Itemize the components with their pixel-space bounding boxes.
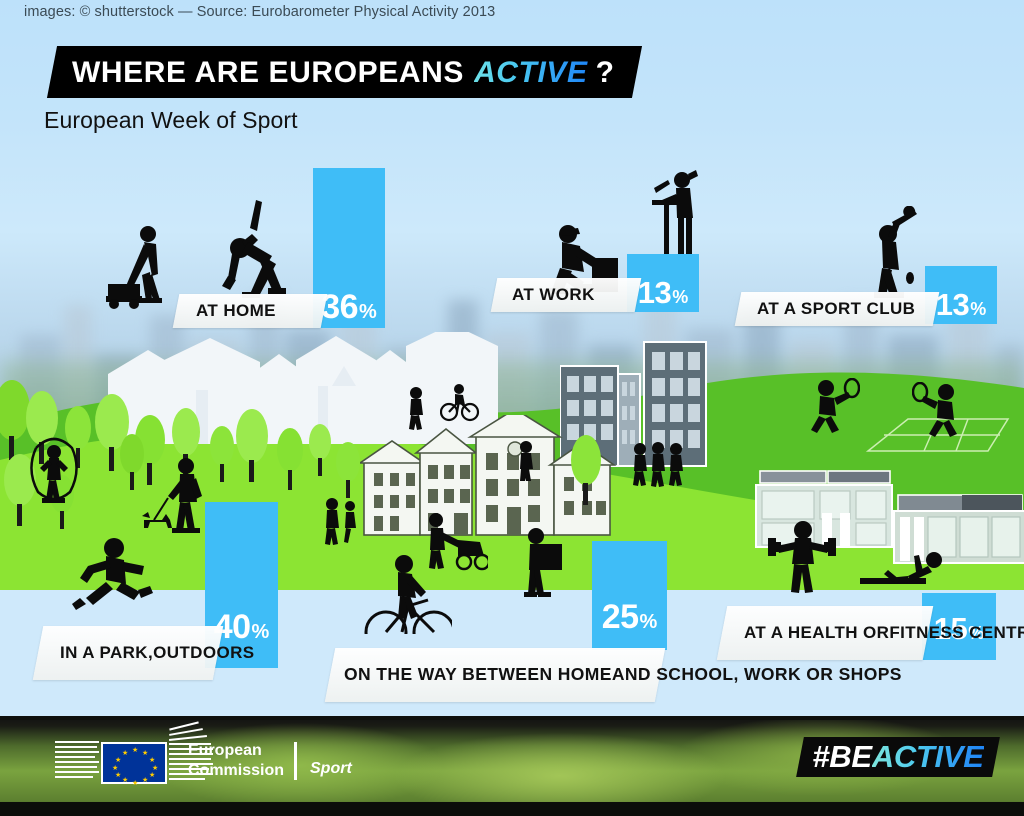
person-walking-hill-icon bbox=[404, 386, 430, 430]
label-at-work: AT WORK bbox=[512, 278, 638, 312]
logo-flourish-left bbox=[55, 739, 99, 783]
page-title: WHERE ARE EUROPEANS ACTIVE ? bbox=[72, 51, 615, 95]
joggers-group-icon bbox=[632, 442, 686, 492]
golfer-icon bbox=[858, 206, 924, 306]
footer-bottom-edge bbox=[0, 802, 1024, 816]
small-cyclist-icon bbox=[440, 384, 480, 422]
tree-single-center bbox=[560, 430, 640, 510]
child-walking-icon bbox=[318, 496, 362, 552]
floor-exercise-person-icon bbox=[856, 546, 952, 588]
hashtag-be-text: #BE bbox=[812, 739, 871, 775]
european-union-flag: ★ ★ ★ ★ ★ ★ ★ ★ ★ ★ ★ ★ bbox=[101, 742, 167, 784]
title-accent-text: ACTIVE bbox=[474, 56, 588, 90]
label-line-2: FITNESS CENTRE bbox=[889, 622, 1024, 643]
label-line-1: IN A PARK, bbox=[60, 642, 153, 663]
logo-divider bbox=[294, 742, 297, 780]
student-with-backpack-icon bbox=[518, 526, 566, 602]
tennis-player-right-icon bbox=[912, 382, 972, 438]
eu-line-1: European bbox=[188, 741, 284, 761]
bar-on-the-way: 25% bbox=[592, 541, 667, 650]
bar-value-on-the-way: 25% bbox=[592, 600, 667, 634]
footer-top-edge bbox=[0, 716, 1024, 720]
title-main-text: WHERE ARE EUROPEANS bbox=[72, 56, 464, 90]
person-standing-icon bbox=[514, 440, 540, 482]
label-line-1: AT A HEALTH OR bbox=[744, 622, 889, 643]
label-line-1: ON THE WAY BETWEEN HOME bbox=[344, 664, 612, 686]
hashtag-active-text: ACTIVE bbox=[872, 739, 984, 775]
tennis-player-left-icon bbox=[800, 378, 860, 434]
title-question-mark: ? bbox=[596, 56, 615, 90]
label-in-a-park-outdoors: IN A PARK,OUTDOORS bbox=[60, 626, 220, 680]
label-at-a-health-or-fitness-centre: AT A HEALTH ORFITNESS CENTRE bbox=[744, 606, 934, 660]
european-commission-wordmark: European Commission bbox=[188, 741, 284, 780]
runner-icon bbox=[66, 536, 162, 610]
label-line-2: AND SCHOOL, WORK OR SHOPS bbox=[612, 664, 902, 686]
source-credit-line: images: © shutterstock — Source: Eurobar… bbox=[24, 4, 495, 20]
weightlifter-icon bbox=[766, 516, 840, 594]
eu-line-2: Commission bbox=[188, 761, 284, 781]
european-commission-logo: ★ ★ ★ ★ ★ ★ ★ ★ ★ ★ ★ ★ bbox=[55, 735, 185, 787]
label-on-the-way: ON THE WAY BETWEEN HOMEAND SCHOOL, WORK … bbox=[344, 648, 662, 702]
label-line-2: OUTDOORS bbox=[153, 642, 254, 663]
sport-wordmark: Sport bbox=[310, 760, 352, 778]
jump-rope-person-icon bbox=[26, 430, 82, 510]
page-subtitle: European Week of Sport bbox=[44, 107, 298, 134]
parent-with-stroller-icon bbox=[422, 510, 488, 576]
lawn-mower-person-icon bbox=[104, 222, 174, 322]
infographic-canvas: images: © shutterstock — Source: Eurobar… bbox=[0, 0, 1024, 816]
label-at-a-sport-club: AT A SPORT CLUB bbox=[757, 292, 937, 326]
beactive-hashtag: #BEACTIVE bbox=[806, 739, 990, 775]
standing-desk-worker-icon bbox=[648, 168, 706, 264]
person-stretching-icon bbox=[206, 196, 296, 308]
label-at-home: AT HOME bbox=[196, 294, 326, 328]
